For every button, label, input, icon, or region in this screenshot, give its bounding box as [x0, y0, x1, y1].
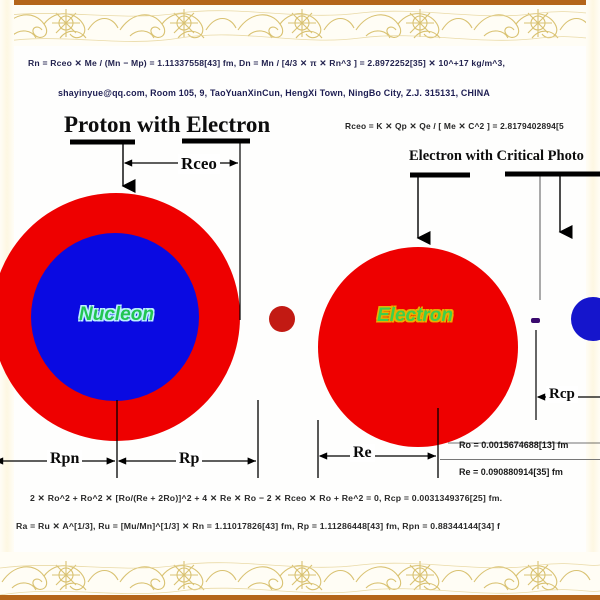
heading-electron-with-critical-photon: Electron with Critical Photo: [409, 148, 584, 165]
heading-proton-with-electron: Proton with Electron: [64, 112, 270, 138]
formula-rceo: Rceo = K ✕ Qp ✕ Qe / [ Me ✕ C^2 ] = 2.81…: [345, 121, 564, 131]
formula-ra-ru-rp-rpn: Ra = Ru ✕ A^[1/3], Ru = [Mu/Mn]^[1/3] ✕ …: [16, 521, 500, 532]
border-pattern-top: [0, 0, 600, 46]
label-electron: Electron: [377, 305, 453, 327]
border-pattern-bottom: [0, 552, 600, 600]
dimension-label-re: Re: [350, 444, 375, 462]
dimension-label-rpn: Rpn: [47, 450, 82, 468]
ornamental-border-bottom: [0, 552, 600, 600]
dimension-label-rcp: Rcp: [546, 386, 578, 403]
contact-line: shayinyue@qq.com, Room 105, 9, TaoYuanXi…: [58, 88, 490, 98]
critical-photon-circle: [269, 306, 295, 332]
border-edge-bottom: [0, 595, 600, 600]
value-ro: Ro = 0.0015674688[13] fm: [459, 440, 568, 450]
value-divider: [440, 459, 600, 460]
diagram-canvas: Rn = Rceo ✕ Me / (Mn − Mp) = 1.11337558[…: [0, 0, 600, 600]
critical-photon-small-marker: [531, 318, 540, 323]
electron-small-circle: [571, 297, 600, 341]
ornamental-border-top: [0, 0, 600, 46]
formula-quadratic-rcp: 2 ✕ Ro^2 + Ro^2 ✕ [Ro/(Re + 2Ro)]^2 + 4 …: [30, 493, 502, 504]
label-nucleon: Nucleon: [79, 304, 154, 326]
dimension-label-rp: Rp: [176, 450, 202, 468]
dimension-label-rceo: Rceo: [178, 154, 220, 174]
electron-circle: [318, 247, 518, 447]
formula-rn-dn: Rn = Rceo ✕ Me / (Mn − Mp) = 1.11337558[…: [28, 58, 505, 69]
value-re: Re = 0.090880914[35] fm: [459, 467, 563, 477]
border-edge-top: [0, 0, 600, 5]
